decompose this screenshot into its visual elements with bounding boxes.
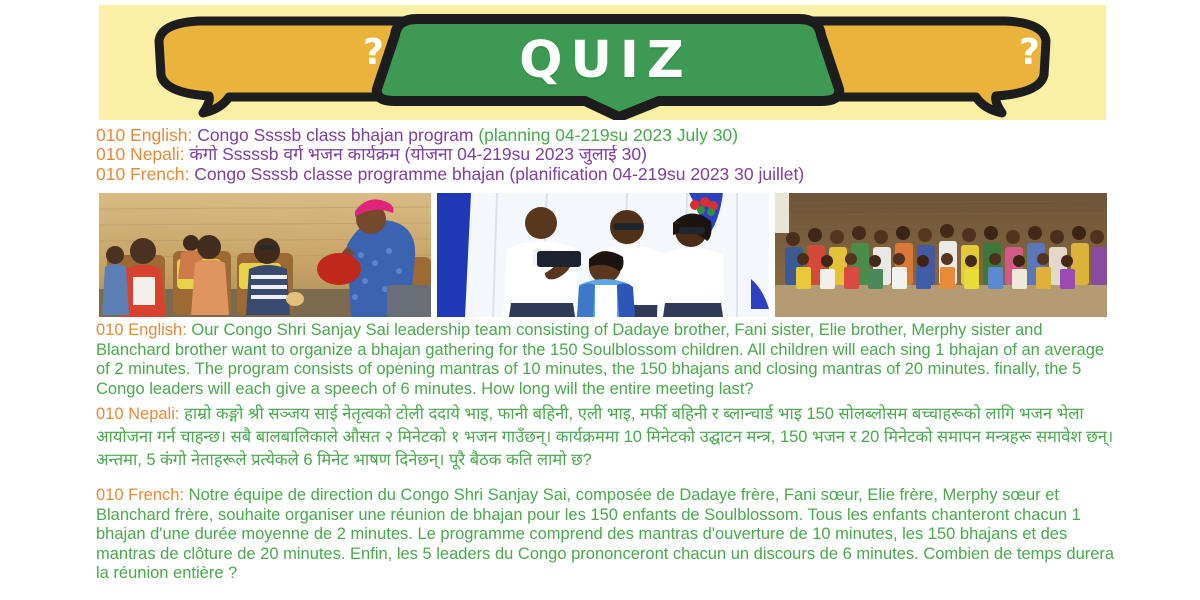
title-text-french: Congo Ssssb classe programme bhajan (pla…	[189, 165, 804, 184]
photo-leadership-team	[437, 193, 769, 317]
title-lines: 010 English: Congo Ssssb class bhajan pr…	[96, 126, 1106, 184]
paragraph-nepali: 010 Nepali: हाम्रो कङ्गो श्री सञ्जय साई …	[96, 403, 1118, 483]
photo-row	[99, 193, 1107, 317]
title-label-french: 010 French:	[96, 165, 189, 184]
title-text-nepali: कंगो Sssssb वर्ग भजन कार्यक्रम (योजना 04…	[185, 145, 647, 164]
photo-teaching-session	[99, 193, 431, 317]
title-label-nepali: 010 Nepali:	[96, 145, 185, 164]
title-line-french: 010 French: Congo Ssssb classe programme…	[96, 165, 1106, 184]
paragraph-text-french: Notre équipe de direction du Congo Shri …	[96, 486, 1114, 582]
title-line-english: 010 English: Congo Ssssb class bhajan pr…	[96, 126, 1106, 145]
photo-children-group	[775, 193, 1107, 317]
title-text-english: Congo Ssssb class bhajan program	[192, 126, 478, 145]
paragraph-text-english: Our Congo Shri Sanjay Sai leadership tea…	[96, 321, 1104, 398]
paragraph-label-nepali: 010 Nepali:	[96, 405, 179, 423]
title-paren-english: (planning 04-219su 2023 July 30)	[478, 126, 738, 145]
quiz-banner-artwork	[99, 5, 1106, 120]
paragraph-french: 010 French: Notre équipe de direction du…	[96, 486, 1118, 586]
quiz-page: ? ? QUIZ 010 English: Congo Ssssb class …	[0, 0, 1200, 600]
paragraph-label-english: 010 English:	[96, 321, 187, 339]
paragraph-text-nepali: हाम्रो कङ्गो श्री सञ्जय साई नेतृत्वको टो…	[96, 405, 1113, 469]
title-line-nepali: 010 Nepali: कंगो Sssssb वर्ग भजन कार्यक्…	[96, 145, 1106, 164]
title-label-english: 010 English:	[96, 126, 192, 145]
quiz-banner: ? ? QUIZ	[99, 5, 1106, 120]
paragraph-label-french: 010 French:	[96, 486, 184, 504]
paragraph-english: 010 English: Our Congo Shri Sanjay Sai l…	[96, 321, 1118, 401]
